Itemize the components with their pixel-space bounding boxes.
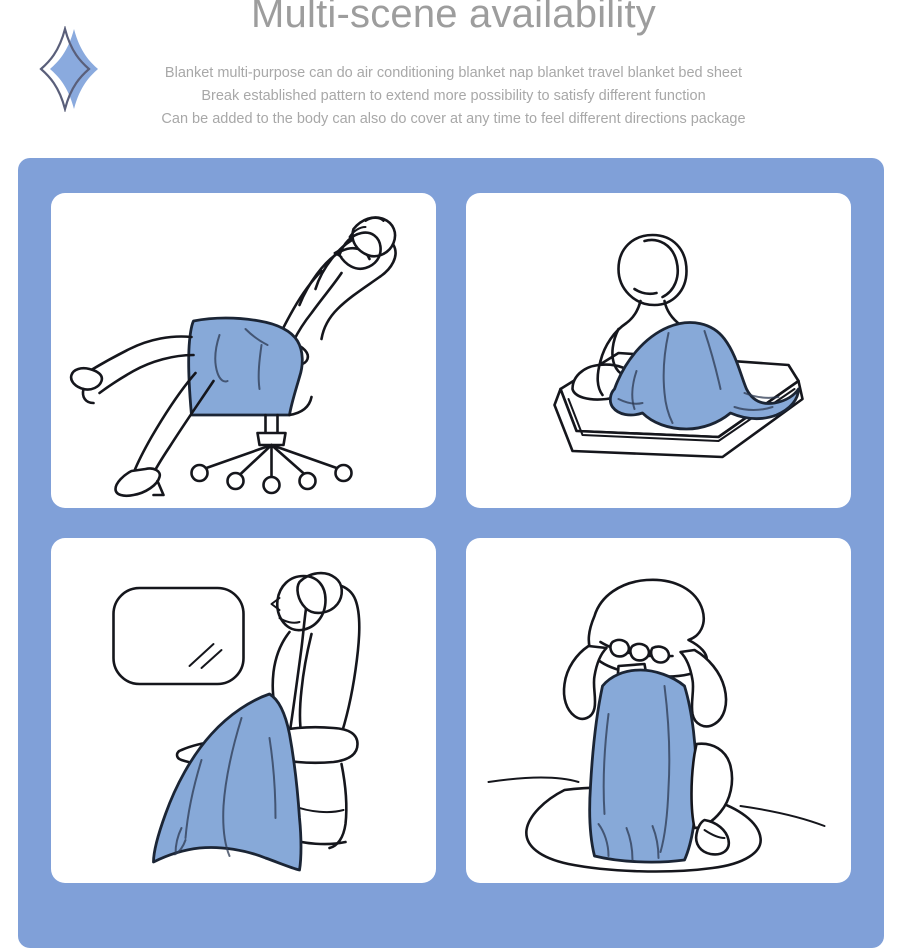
scene-panel-picnic[interactable] xyxy=(466,538,851,883)
scene-panel-airplane-seat[interactable] xyxy=(51,538,436,883)
scene-panel-frame xyxy=(18,158,884,948)
bed-illustration xyxy=(466,193,851,508)
subtitle-block: Blanket multi-purpose can do air conditi… xyxy=(0,62,907,131)
subtitle-line-2: Break established pattern to extend more… xyxy=(0,85,907,108)
page-header: Multi-scene availability Blanket multi-p… xyxy=(0,0,907,158)
picnic-illustration xyxy=(466,538,851,883)
scene-panel-bed[interactable] xyxy=(466,193,851,508)
subtitle-line-1: Blanket multi-purpose can do air conditi… xyxy=(0,62,907,85)
airplane-seat-illustration xyxy=(51,538,436,883)
office-chair-illustration xyxy=(51,193,436,508)
subtitle-line-3: Can be added to the body can also do cov… xyxy=(0,108,907,131)
scene-grid xyxy=(51,193,851,913)
scene-panel-office-chair[interactable] xyxy=(51,193,436,508)
page-title: Multi-scene availability xyxy=(0,0,907,37)
